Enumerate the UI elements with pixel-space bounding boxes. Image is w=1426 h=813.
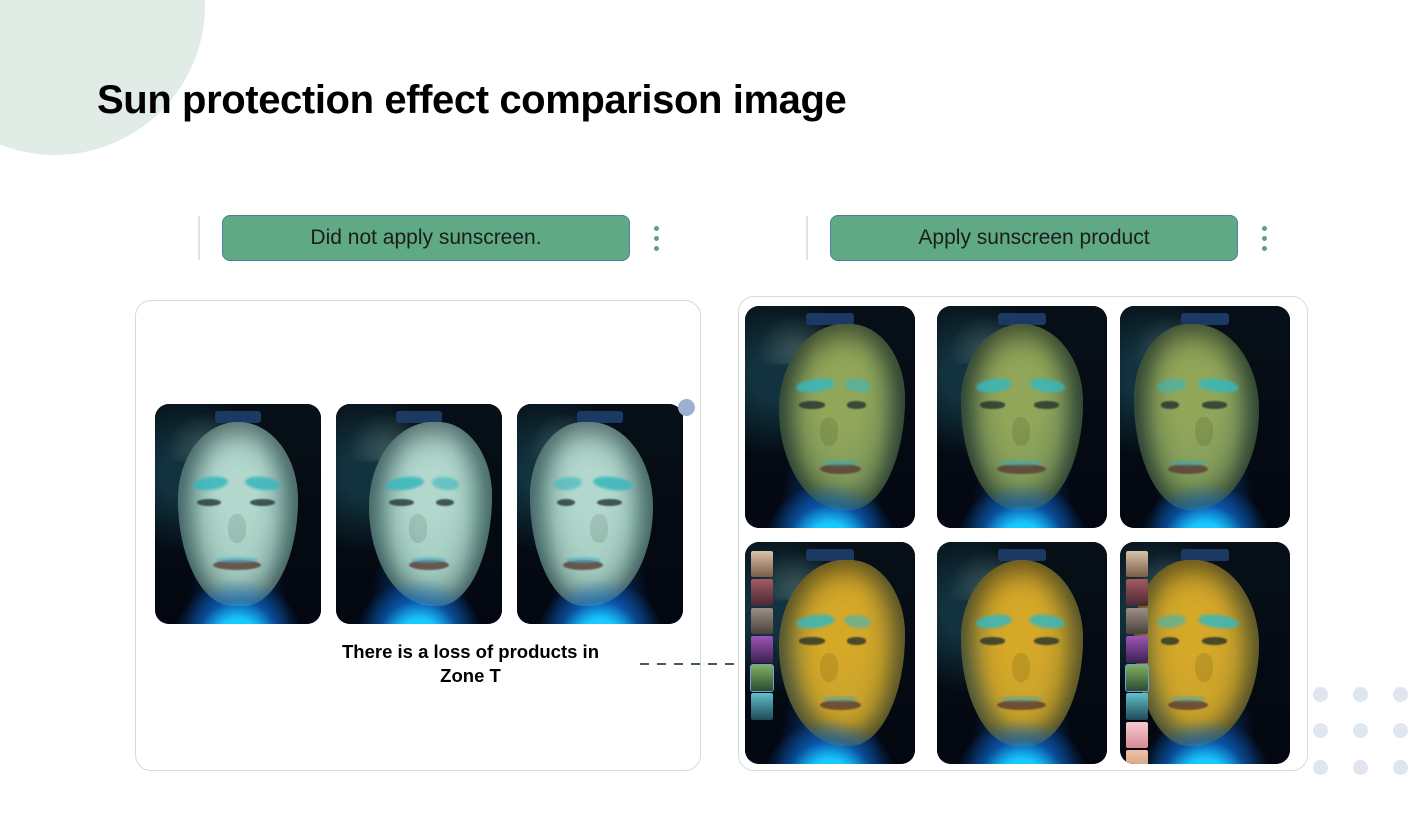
kebab-dot <box>654 236 659 241</box>
decorative-dot <box>1313 687 1328 702</box>
decorative-dot <box>1393 687 1408 702</box>
kebab-dot <box>1262 226 1267 231</box>
thumbnail-strip[interactable] <box>1126 551 1148 764</box>
label-apply-sunscreen[interactable]: Apply sunscreen product <box>830 215 1238 261</box>
page-title: Sun protection effect comparison image <box>97 78 846 123</box>
eye-right <box>847 637 866 644</box>
uv-lamp-glow <box>1140 720 1269 764</box>
kebab-dot <box>654 226 659 231</box>
marker-dot <box>678 399 695 416</box>
mouth <box>997 700 1046 710</box>
photo-left-2[interactable] <box>336 404 502 624</box>
uv-face-photo-profile-right-gold <box>1120 542 1290 764</box>
photo-right-3[interactable] <box>1120 306 1290 528</box>
kebab-dot <box>654 246 659 251</box>
thumbnail-item[interactable] <box>1126 693 1148 720</box>
thumbnail-item[interactable] <box>1126 636 1148 663</box>
uv-lamp-glow <box>356 580 482 624</box>
eye-right <box>436 499 454 506</box>
eye-right <box>1034 637 1060 644</box>
uv-lamp-glow <box>1140 484 1269 528</box>
photo-left-3[interactable] <box>517 404 683 624</box>
kebab-dot <box>1262 236 1267 241</box>
photo-right-1[interactable] <box>745 306 915 528</box>
decorative-dot <box>1393 723 1408 738</box>
thumbnail-item[interactable] <box>751 693 773 720</box>
headband <box>396 411 442 423</box>
photo-right-5[interactable] <box>937 542 1107 764</box>
thumbnail-item[interactable] <box>1126 579 1148 606</box>
thumbnail-item[interactable] <box>1126 551 1148 578</box>
nose <box>820 653 839 682</box>
eye-right <box>250 499 275 506</box>
uv-face-photo-profile-left-teal <box>336 404 502 624</box>
nose <box>590 514 608 543</box>
kebab-dot <box>1262 246 1267 251</box>
photo-left-1[interactable] <box>155 404 321 624</box>
uv-face-photo-profile-left-gold <box>745 542 915 764</box>
header-tick-mark <box>806 216 808 260</box>
label-no-sunscreen[interactable]: Did not apply sunscreen. <box>222 215 630 261</box>
caption-line-1: There is a loss of products in <box>308 640 633 664</box>
uv-lamp-glow <box>765 720 894 764</box>
eye-right <box>1202 637 1228 644</box>
photo-right-6[interactable] <box>1120 542 1290 764</box>
thumbnail-item[interactable] <box>751 636 773 663</box>
kebab-menu-icon-no-sunscreen[interactable] <box>646 222 667 255</box>
thumbnail-item-selected[interactable] <box>1126 665 1148 692</box>
eye-left <box>1161 637 1180 644</box>
eye-left <box>799 637 825 644</box>
photo-right-4[interactable] <box>745 542 915 764</box>
thumbnail-item[interactable] <box>751 551 773 578</box>
uv-face-photo-profile-left-green <box>745 306 915 528</box>
mouth <box>1168 464 1209 474</box>
uv-face-photo-profile-right-green <box>1120 306 1290 528</box>
thumbnail-item[interactable] <box>751 608 773 635</box>
decorative-dot <box>1353 723 1368 738</box>
uv-lamp-glow <box>957 484 1086 528</box>
decorative-dot-grid-bottom-right <box>1300 676 1420 786</box>
eye-right <box>1034 401 1060 408</box>
eye-right <box>1202 401 1228 408</box>
eye-left <box>980 401 1006 408</box>
nose <box>409 514 427 543</box>
column-header-no-sunscreen: Did not apply sunscreen. <box>198 214 667 262</box>
uv-lamp-glow <box>765 484 894 528</box>
uv-lamp-glow <box>537 580 663 624</box>
uv-face-photo-front-teal <box>155 404 321 624</box>
kebab-menu-icon-with-sunscreen[interactable] <box>1254 222 1275 255</box>
nose <box>228 514 246 543</box>
caption-line-2: Zone T <box>308 664 633 688</box>
mouth <box>820 464 861 474</box>
eye-right <box>847 401 866 408</box>
thumbnail-item[interactable] <box>1126 722 1148 749</box>
nose <box>1195 417 1214 446</box>
eye-left <box>389 499 414 506</box>
eye-left <box>557 499 575 506</box>
nose <box>820 417 839 446</box>
mouth <box>820 700 861 710</box>
decorative-dot <box>1353 687 1368 702</box>
mouth <box>997 464 1046 474</box>
photo-right-2[interactable] <box>937 306 1107 528</box>
uv-face-photo-profile-right-teal <box>517 404 683 624</box>
eye-left <box>980 637 1006 644</box>
thumbnail-strip[interactable] <box>751 551 773 720</box>
headband <box>215 411 261 423</box>
eye-left <box>197 499 222 506</box>
column-header-with-sunscreen: Apply sunscreen product <box>806 214 1275 262</box>
nose <box>1195 653 1214 682</box>
mouth <box>1168 700 1209 710</box>
uv-lamp-glow <box>957 720 1086 764</box>
decorative-dot <box>1393 760 1408 775</box>
uv-face-photo-front-gold <box>937 542 1107 764</box>
nose <box>1012 417 1031 446</box>
header-tick-mark <box>198 216 200 260</box>
nose <box>1012 653 1031 682</box>
eye-left <box>799 401 825 408</box>
eye-left <box>1161 401 1180 408</box>
uv-lamp-glow <box>175 580 301 624</box>
thumbnail-item[interactable] <box>751 579 773 606</box>
headband <box>577 411 623 423</box>
thumbnail-item[interactable] <box>1126 608 1148 635</box>
uv-face-photo-front-green <box>937 306 1107 528</box>
caption-zone-t-loss: There is a loss of products in Zone T <box>308 640 633 687</box>
decorative-dot <box>1313 760 1328 775</box>
thumbnail-item-selected[interactable] <box>751 665 773 692</box>
decorative-dot <box>1353 760 1368 775</box>
decorative-dot <box>1313 723 1328 738</box>
thumbnail-item[interactable] <box>1126 750 1148 764</box>
eye-right <box>597 499 622 506</box>
